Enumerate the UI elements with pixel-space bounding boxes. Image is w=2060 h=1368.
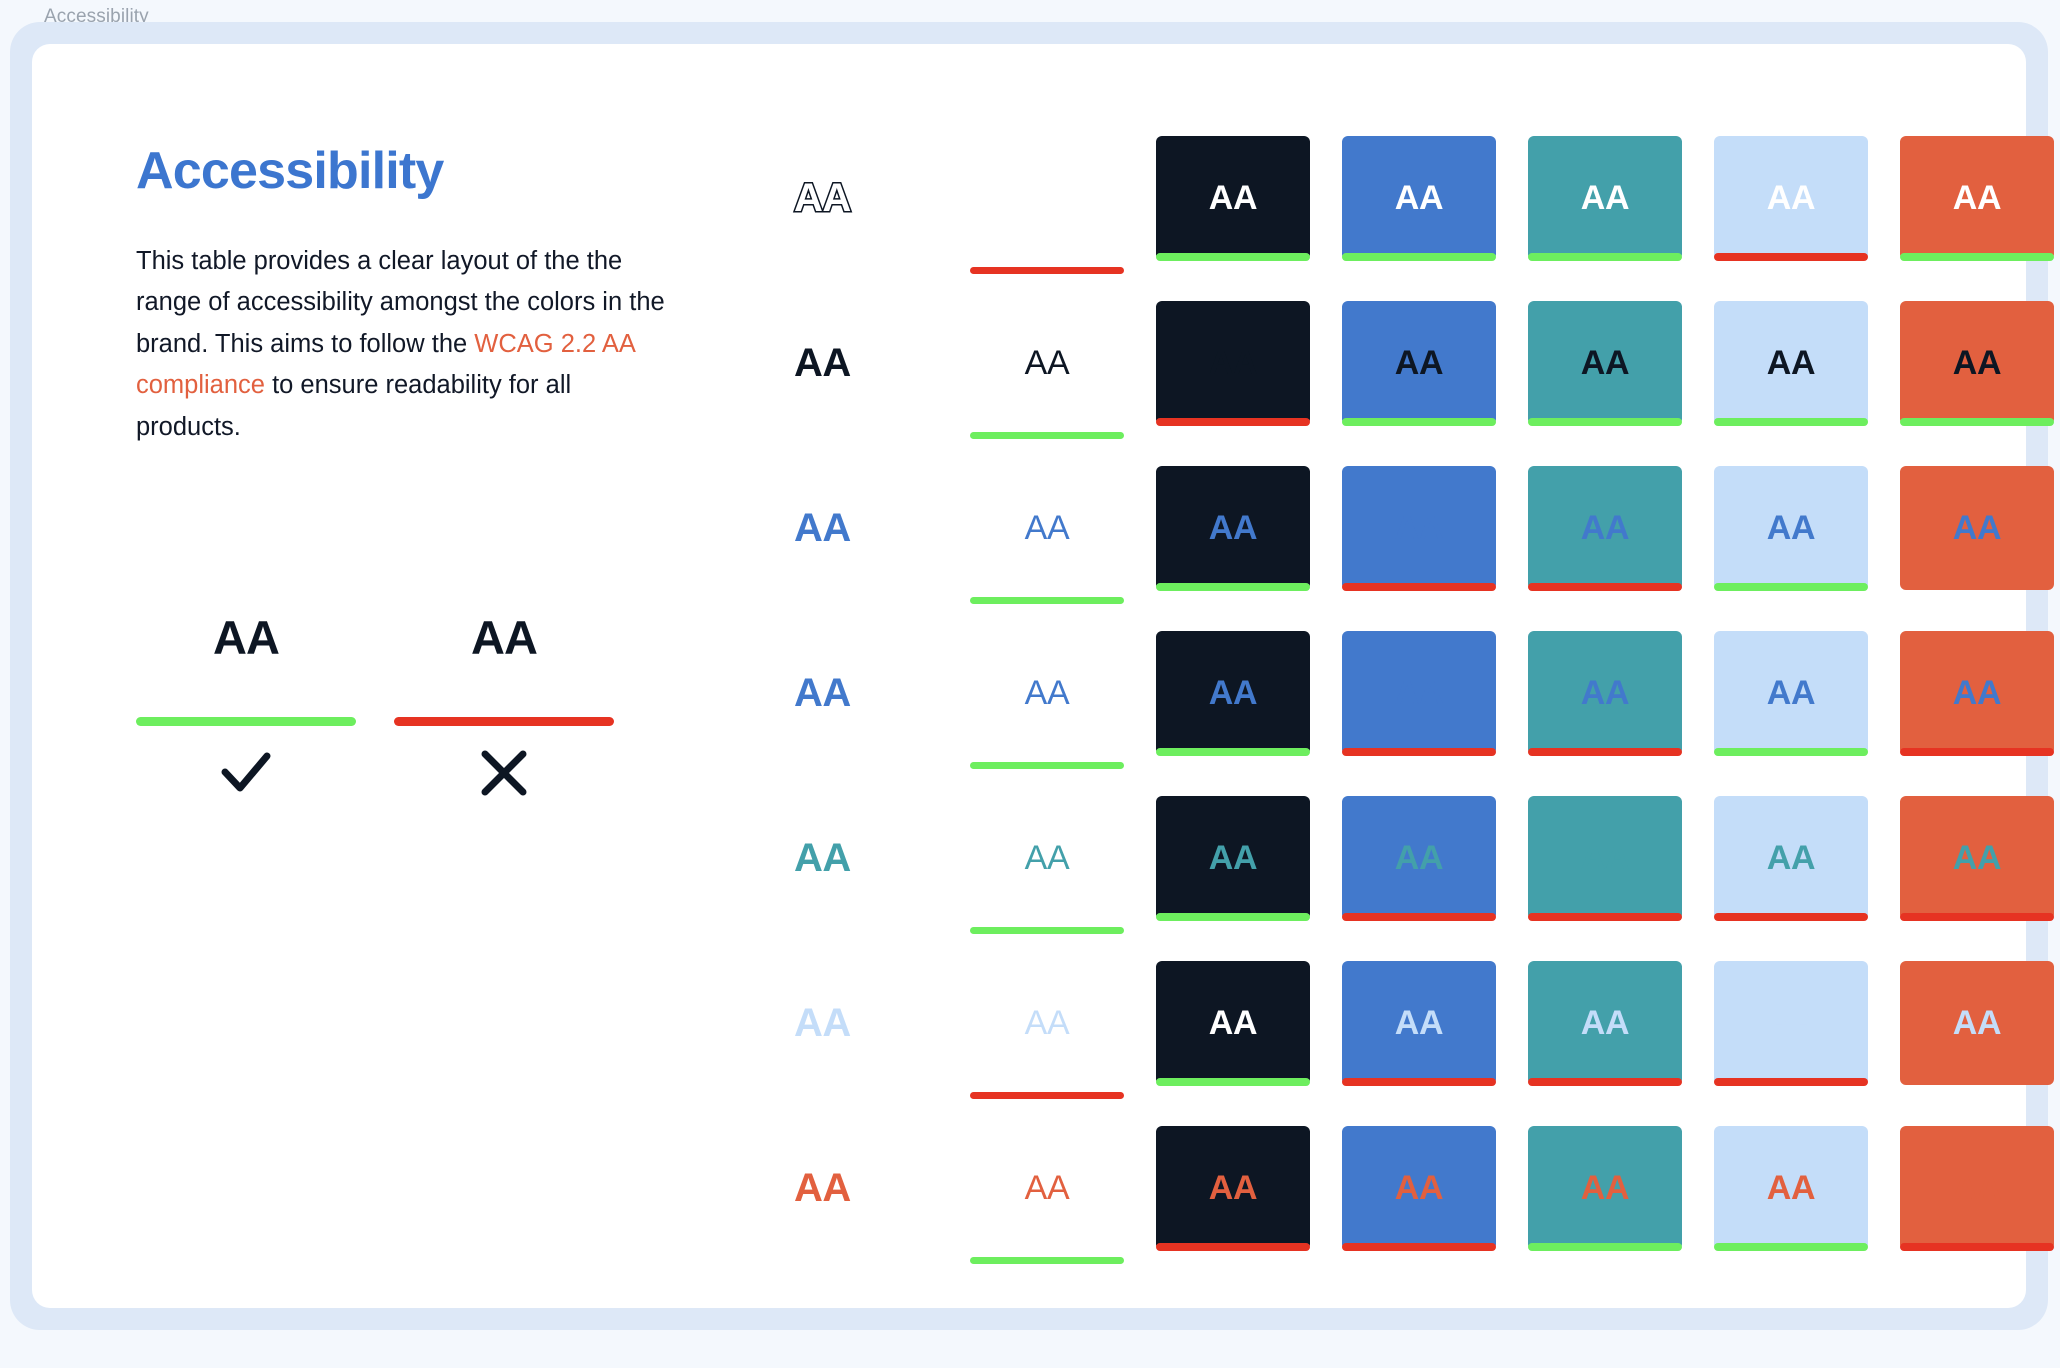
matrix-cell-navy-text-on-blue[interactable]: AA xyxy=(1342,301,1496,425)
cell-sample-text: AA xyxy=(1767,841,1816,875)
matrix-cell-white-text-on-blue[interactable]: AA xyxy=(1342,136,1496,260)
matrix-cell-orange-text-on-blue[interactable]: AA xyxy=(1342,1126,1496,1250)
matrix-cell-orange-text-on-light-blue[interactable]: AA xyxy=(1714,1126,1868,1250)
contrast-indicator-fail xyxy=(1342,583,1496,591)
contrast-indicator-fail xyxy=(1528,748,1682,756)
cell-sample-text: AA xyxy=(1395,1171,1444,1205)
cell-sample-text: AA xyxy=(1581,181,1630,215)
legend-bar-pass xyxy=(136,717,356,726)
matrix-cell-white-text-on-navy[interactable]: AA xyxy=(1156,136,1310,260)
contrast-indicator-fail xyxy=(1900,1243,2054,1251)
matrix-cell-white-text-on-white[interactable]: AA xyxy=(970,136,1124,260)
cell-sample-text: AA xyxy=(1025,346,1070,380)
cell-sample-text: AA xyxy=(1767,1171,1816,1205)
cell-sample-text: AA xyxy=(1953,1171,2002,1205)
cell-sample-text: AA xyxy=(1025,841,1070,875)
cell-sample-text: AA xyxy=(1581,346,1630,380)
cell-sample-text: AA xyxy=(1767,346,1816,380)
matrix-cell-blue-text-2-on-light-blue[interactable]: AA xyxy=(1714,631,1868,755)
card-frame: Accessibility This table provides a clea… xyxy=(10,22,2048,1330)
contrast-indicator-pass xyxy=(1342,418,1496,426)
contrast-indicator-pass xyxy=(1342,253,1496,261)
matrix-cell-light-blue-text-on-orange[interactable]: AA xyxy=(1900,961,2054,1085)
cell-sample-text: AA xyxy=(1395,841,1444,875)
contrast-indicator-pass xyxy=(970,927,1124,934)
contrast-indicator-fail xyxy=(1714,1078,1868,1086)
cell-sample-text: AA xyxy=(1953,346,2002,380)
contrast-indicator-pass xyxy=(1714,748,1868,756)
matrix-cell-navy-text-on-orange[interactable]: AA xyxy=(1900,301,2054,425)
content-card: Accessibility This table provides a clea… xyxy=(32,44,2026,1308)
contrast-indicator-pass xyxy=(970,597,1124,604)
cell-sample-text: AA xyxy=(1395,346,1444,380)
page-title: Accessibility xyxy=(136,144,696,199)
matrix-row-header-teal-text: AA xyxy=(794,796,954,920)
cell-sample-text: AA xyxy=(1953,181,2002,215)
check-icon xyxy=(217,744,275,802)
contrast-indicator-fail xyxy=(970,1092,1124,1099)
cross-icon xyxy=(475,744,533,802)
cell-sample-text: AA xyxy=(1209,181,1258,215)
contrast-indicator-fail xyxy=(1900,913,2054,921)
cell-sample-text: AA xyxy=(1581,1171,1630,1205)
cell-sample-text: AA xyxy=(1767,676,1816,710)
cell-sample-text: AA xyxy=(1953,1006,2002,1040)
cell-sample-text: AA xyxy=(1953,841,2002,875)
contrast-indicator-fail xyxy=(1342,748,1496,756)
contrast-indicator-fail xyxy=(1528,583,1682,591)
matrix-cell-blue-text-on-blue[interactable]: AA xyxy=(1342,466,1496,590)
matrix-cell-light-blue-text-on-teal[interactable]: AA xyxy=(1528,961,1682,1085)
legend-item-fail: AA xyxy=(394,614,614,802)
cell-sample-text: AA xyxy=(1025,1006,1070,1040)
matrix-cell-blue-text-on-white[interactable]: AA xyxy=(970,466,1124,590)
matrix-row-header-orange-text: AA xyxy=(794,1126,954,1250)
matrix-cell-light-blue-text-on-light-blue[interactable]: AA xyxy=(1714,961,1868,1085)
matrix-cell-blue-text-2-on-blue[interactable]: AA xyxy=(1342,631,1496,755)
matrix-cell-teal-text-on-blue[interactable]: AA xyxy=(1342,796,1496,920)
matrix-cell-teal-text-on-navy[interactable]: AA xyxy=(1156,796,1310,920)
cell-sample-text: AA xyxy=(1581,1006,1630,1040)
legend-sample-text: AA xyxy=(471,614,537,661)
cell-sample-text: AA xyxy=(1953,676,2002,710)
matrix-cell-blue-text-on-orange[interactable]: AA xyxy=(1900,466,2054,590)
cell-sample-text: AA xyxy=(1581,511,1630,545)
contrast-indicator-pass xyxy=(1156,913,1310,921)
legend: AAAA xyxy=(136,614,614,802)
matrix-cell-blue-text-2-on-navy[interactable]: AA xyxy=(1156,631,1310,755)
cell-sample-text: AA xyxy=(1025,511,1070,545)
matrix-cell-blue-text-on-light-blue[interactable]: AA xyxy=(1714,466,1868,590)
contrast-indicator-pass xyxy=(970,1257,1124,1264)
legend-sample-text: AA xyxy=(213,614,279,661)
intro-paragraph: This table provides a clear layout of th… xyxy=(136,241,676,449)
cell-sample-text: AA xyxy=(1767,1006,1816,1040)
contrast-indicator-fail xyxy=(1342,913,1496,921)
contrast-indicator-pass xyxy=(1156,583,1310,591)
matrix-cell-navy-text-on-light-blue[interactable]: AA xyxy=(1714,301,1868,425)
cell-sample-text: AA xyxy=(1395,1006,1444,1040)
matrix-cell-blue-text-2-on-white[interactable]: AA xyxy=(970,631,1124,755)
contrast-indicator-fail xyxy=(1342,1243,1496,1251)
matrix-row-header-navy-text: AA xyxy=(794,301,954,425)
matrix-cell-navy-text-on-white[interactable]: AA xyxy=(970,301,1124,425)
cell-sample-text: AA xyxy=(1209,1171,1258,1205)
contrast-indicator-pass xyxy=(1156,748,1310,756)
matrix-cell-blue-text-2-on-teal[interactable]: AA xyxy=(1528,631,1682,755)
cell-sample-text: AA xyxy=(1767,511,1816,545)
matrix-cell-blue-text-on-navy[interactable]: AA xyxy=(1156,466,1310,590)
contrast-indicator-pass xyxy=(1714,1243,1868,1251)
contrast-indicator-fail xyxy=(1156,1243,1310,1251)
contrast-indicator-pass xyxy=(1900,418,2054,426)
cell-sample-text: AA xyxy=(1209,511,1258,545)
matrix-cell-orange-text-on-teal[interactable]: AA xyxy=(1528,1126,1682,1250)
matrix-cell-light-blue-text-on-white[interactable]: AA xyxy=(970,961,1124,1085)
contrast-indicator-pass xyxy=(1528,1243,1682,1251)
matrix-cell-orange-text-on-navy[interactable]: AA xyxy=(1156,1126,1310,1250)
matrix-cell-teal-text-on-light-blue[interactable]: AA xyxy=(1714,796,1868,920)
matrix-cell-white-text-on-teal[interactable]: AA xyxy=(1528,136,1682,260)
matrix-cell-teal-text-on-teal[interactable]: AA xyxy=(1528,796,1682,920)
legend-bar-fail xyxy=(394,717,614,726)
matrix-cell-teal-text-on-white[interactable]: AA xyxy=(970,796,1124,920)
contrast-indicator-pass xyxy=(1714,583,1868,591)
contrast-indicator-pass xyxy=(1156,1078,1310,1086)
matrix-cell-teal-text-on-orange[interactable]: AA xyxy=(1900,796,2054,920)
matrix-cell-navy-text-on-navy[interactable]: AA xyxy=(1156,301,1310,425)
cell-sample-text: AA xyxy=(1395,676,1444,710)
matrix-cell-white-text-on-orange[interactable]: AA xyxy=(1900,136,2054,260)
contrast-matrix: AAAAAAAAAAAAAAAAAAAAAAAAAAAAAAAAAAAAAAAA… xyxy=(794,136,2060,1250)
matrix-cell-white-text-on-light-blue[interactable]: AA xyxy=(1714,136,1868,260)
contrast-indicator-fail xyxy=(1528,913,1682,921)
cell-sample-text: AA xyxy=(1025,676,1070,710)
matrix-cell-orange-text-on-orange[interactable]: AA xyxy=(1900,1126,2054,1250)
contrast-indicator-pass xyxy=(1714,418,1868,426)
contrast-indicator-fail xyxy=(1900,748,2054,756)
contrast-indicator-fail xyxy=(1714,913,1868,921)
contrast-indicator-fail xyxy=(1342,1078,1496,1086)
cell-sample-text: AA xyxy=(1209,346,1258,380)
matrix-cell-blue-text-2-on-orange[interactable]: AA xyxy=(1900,631,2054,755)
cell-sample-text: AA xyxy=(1953,511,2002,545)
contrast-indicator-pass xyxy=(1528,253,1682,261)
cell-sample-text: AA xyxy=(1209,1006,1258,1040)
cell-sample-text: AA xyxy=(1209,676,1258,710)
legend-item-pass: AA xyxy=(136,614,356,802)
cell-sample-text: AA xyxy=(1209,841,1258,875)
matrix-cell-orange-text-on-white[interactable]: AA xyxy=(970,1126,1124,1250)
cell-sample-text: AA xyxy=(1581,841,1630,875)
intro-panel: Accessibility This table provides a clea… xyxy=(136,144,696,448)
contrast-indicator-pass xyxy=(1156,253,1310,261)
matrix-row-header-white-text: AA xyxy=(794,136,954,260)
contrast-indicator-fail xyxy=(1156,418,1310,426)
contrast-indicator-fail xyxy=(970,267,1124,274)
cell-sample-text: AA xyxy=(1581,676,1630,710)
matrix-row-header-light-blue-text: AA xyxy=(794,961,954,1085)
matrix-cell-light-blue-text-on-blue[interactable]: AA xyxy=(1342,961,1496,1085)
cell-sample-text: AA xyxy=(1025,181,1070,215)
matrix-cell-blue-text-on-teal[interactable]: AA xyxy=(1528,466,1682,590)
matrix-row-header-blue-text: AA xyxy=(794,466,954,590)
matrix-cell-light-blue-text-on-navy[interactable]: AA xyxy=(1156,961,1310,1085)
contrast-indicator-fail xyxy=(1528,1078,1682,1086)
cell-sample-text: AA xyxy=(1395,511,1444,545)
matrix-cell-navy-text-on-teal[interactable]: AA xyxy=(1528,301,1682,425)
contrast-indicator-pass xyxy=(970,762,1124,769)
matrix-row-header-blue-text-2: AA xyxy=(794,631,954,755)
cell-sample-text: AA xyxy=(1395,181,1444,215)
contrast-indicator-fail xyxy=(1714,253,1868,261)
cell-sample-text: AA xyxy=(1025,1171,1070,1205)
contrast-indicator-pass xyxy=(1900,253,2054,261)
contrast-indicator-pass xyxy=(970,432,1124,439)
contrast-indicator-pass xyxy=(1528,418,1682,426)
cell-sample-text: AA xyxy=(1767,181,1816,215)
